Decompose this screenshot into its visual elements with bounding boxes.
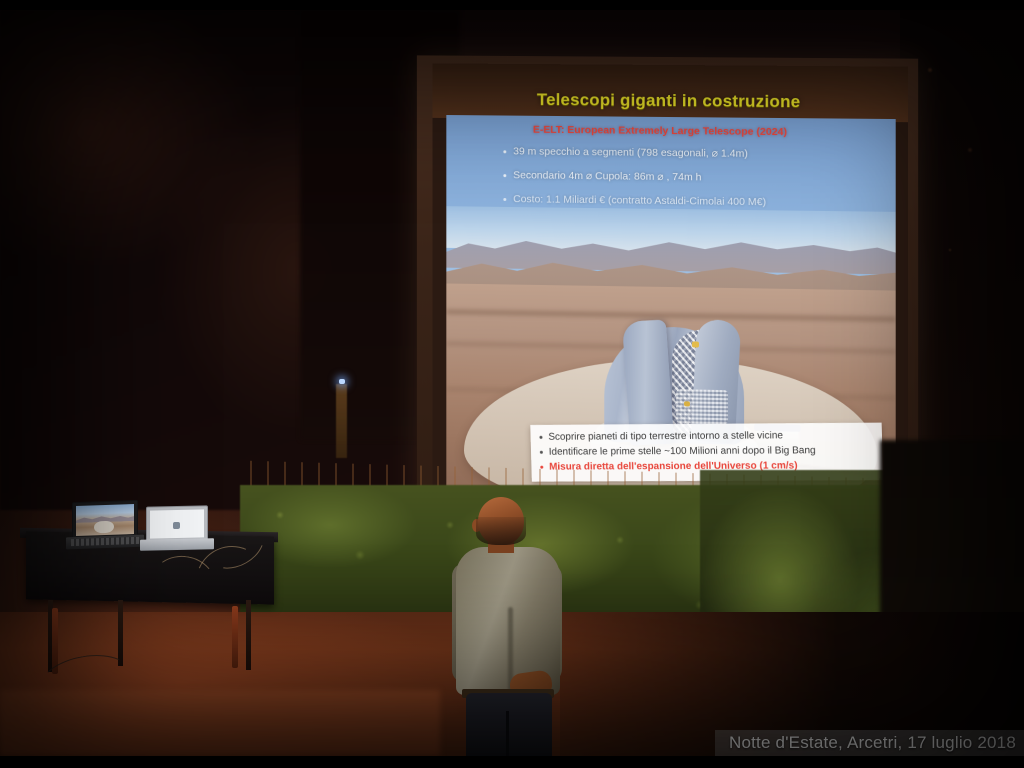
letterbox-bottom xyxy=(0,756,1024,768)
screen-surface: Telescopi giganti in costruzione E-ELT: … xyxy=(433,63,908,513)
slide-bullet: Secondario 4m ⌀ Cupola: 86m ⌀ , 74m h xyxy=(503,169,873,185)
laptop-right-window-icon xyxy=(173,522,180,529)
slide-bullet-text: Secondario 4m ⌀ Cupola: 86m ⌀ , 74m h xyxy=(513,169,701,183)
slide-bullet: 39 m specchio a segmenti (798 esagonali,… xyxy=(503,145,873,161)
info-box-item: Identificare le prime stelle ~100 Milion… xyxy=(540,445,875,458)
photo-caption: Notte d'Estate, Arcetri, 17 luglio 2018 xyxy=(715,730,1024,756)
laptop-right-keyboard[interactable] xyxy=(140,538,214,551)
info-box-item: Scoprire pianeti di tipo terrestre intor… xyxy=(539,430,874,443)
laptop-left[interactable] xyxy=(72,500,138,540)
photo-crane-marker xyxy=(692,341,699,347)
bullet-dot-icon xyxy=(503,198,506,201)
person-standing xyxy=(452,497,564,759)
laptop-right[interactable] xyxy=(146,505,208,542)
photo-crane-marker xyxy=(684,401,690,406)
table-leg xyxy=(118,600,123,666)
bullet-dot-icon xyxy=(503,174,506,177)
laptop-right-screen xyxy=(150,509,204,538)
bullet-dot-icon xyxy=(540,451,543,454)
slide-bullet-text: 39 m specchio a segmenti (798 esagonali,… xyxy=(513,145,748,159)
person-trousers xyxy=(466,693,552,761)
projection-screen: Telescopi giganti in costruzione E-ELT: … xyxy=(414,57,916,512)
photo-segmented-mirror xyxy=(676,389,728,424)
slide-title: Telescopi giganti in costruzione xyxy=(433,89,908,113)
bullet-dot-icon xyxy=(539,436,542,439)
person-hair xyxy=(476,517,526,545)
slide-content: E-ELT: European Extremely Large Telescop… xyxy=(446,115,895,511)
blue-led-light xyxy=(339,379,345,384)
slide-heading: E-ELT: European Extremely Large Telescop… xyxy=(533,124,873,139)
info-box-text: Identificare le prime stelle ~100 Milion… xyxy=(549,445,816,458)
info-box-text: Scoprire pianeti di tipo terrestre intor… xyxy=(548,430,783,443)
light-post xyxy=(336,384,347,458)
laptop-left-screen xyxy=(76,504,134,536)
caption-text: Notte d'Estate, Arcetri, 17 luglio 2018 xyxy=(729,733,1016,753)
screen-header-band: Telescopi giganti in costruzione xyxy=(433,63,908,122)
photo-scene: Telescopi giganti in costruzione E-ELT: … xyxy=(0,0,1024,768)
foliage-right xyxy=(900,10,1024,510)
letterbox-top xyxy=(0,0,1024,10)
bullet-dot-icon xyxy=(503,150,506,153)
slide-bullet-text: Costo: 1.1 Miliardi € (contratto Astaldi… xyxy=(513,193,766,208)
